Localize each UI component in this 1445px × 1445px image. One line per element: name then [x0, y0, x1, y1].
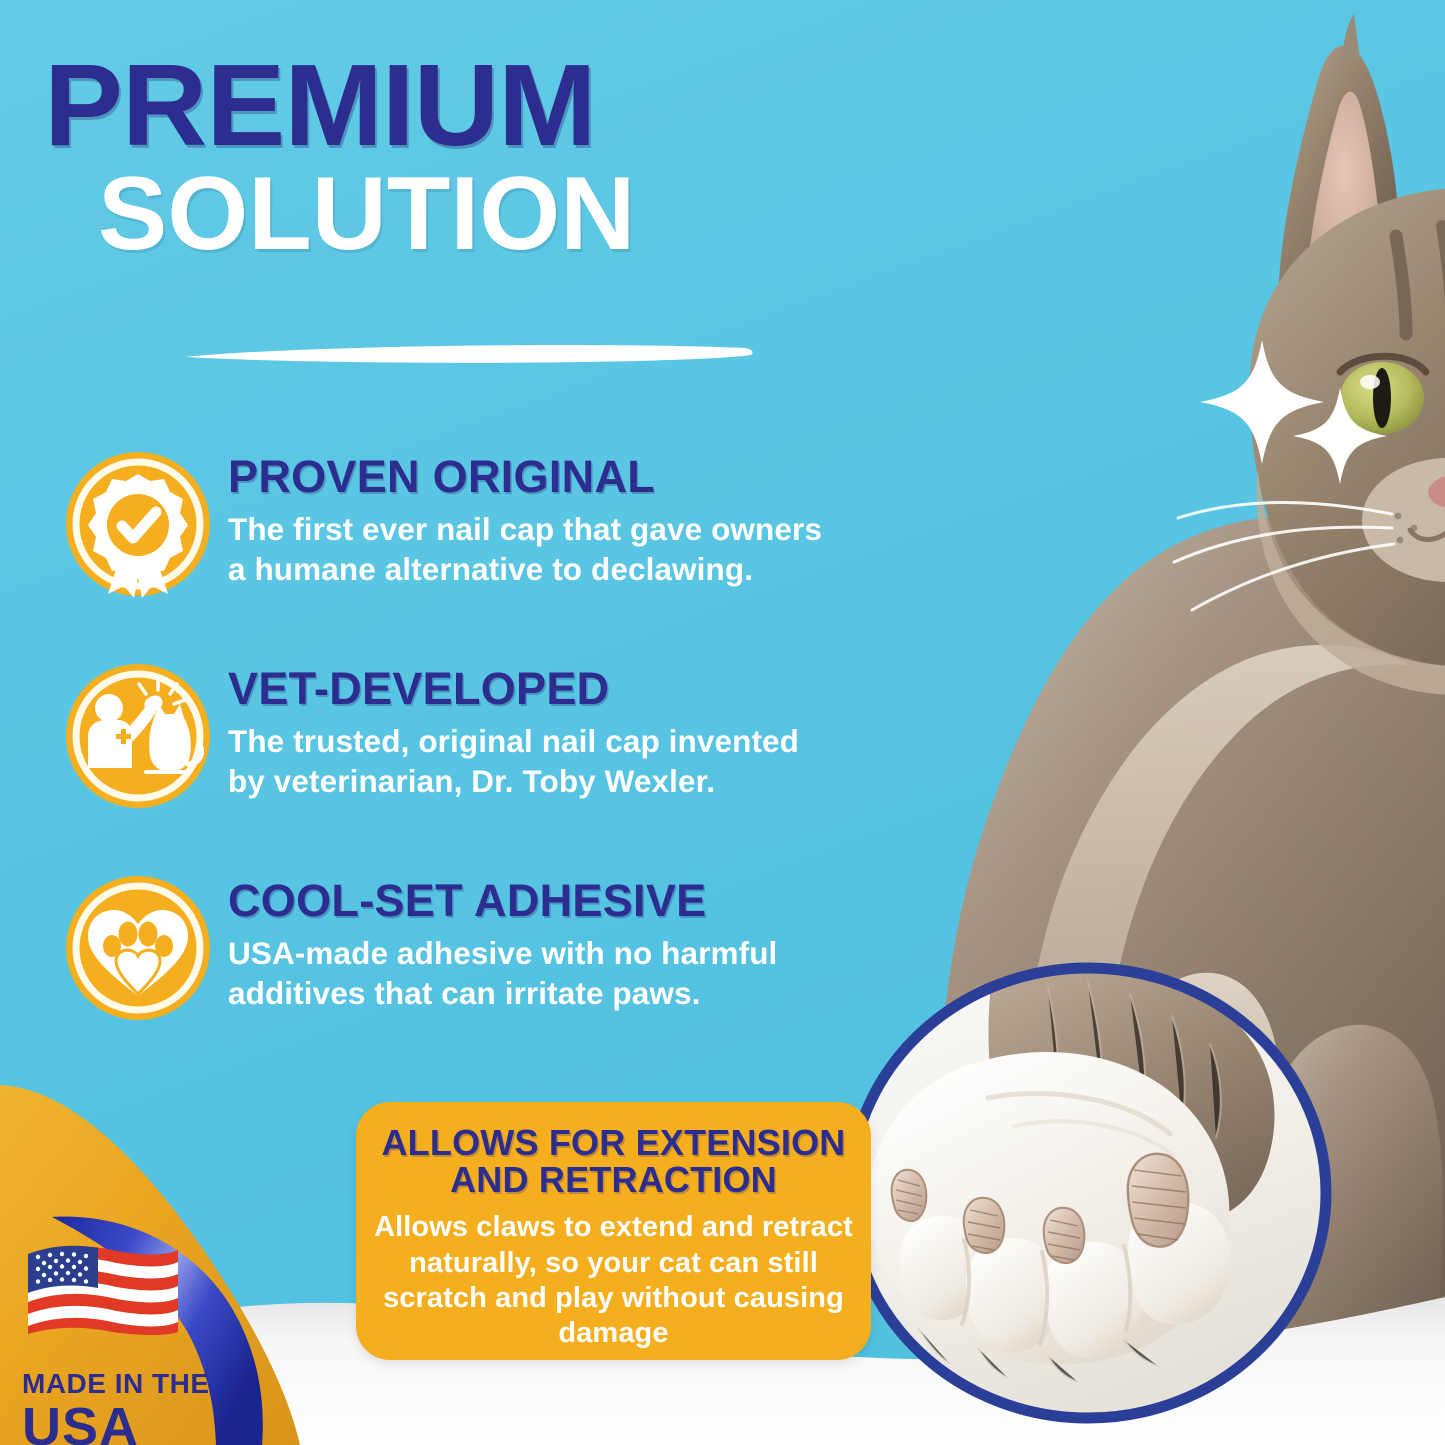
feature-body: USA-made adhesive with no harmful additi… [228, 933, 832, 1014]
made-in-the-label: MADE IN THE [22, 1370, 222, 1398]
usa-label: USA [22, 1400, 222, 1445]
callout-title-line-2: AND RETRACTION [374, 1161, 853, 1198]
feature-title: VET-DEVELOPED [228, 666, 832, 711]
product-feature-graphic: PREMIUM SOLUTION PROVEN ORI [0, 0, 1445, 1445]
made-in-usa-text: MADE IN THE USA [22, 1370, 222, 1445]
headline-line-2: SOLUTION [98, 165, 834, 264]
feature-item: COOL-SET ADHESIVE USA-made adhesive with… [62, 870, 832, 1024]
headline-swoosh-divider [185, 342, 755, 366]
feature-item: PROVEN ORIGINAL The first ever nail cap … [62, 446, 832, 600]
headline-line-1: PREMIUM [44, 52, 850, 159]
feature-text-block: VET-DEVELOPED The trusted, original nail… [228, 658, 832, 802]
callout-title-line-1: ALLOWS FOR EXTENSION [374, 1124, 853, 1161]
heart-paw-icon [62, 872, 214, 1024]
callout-body: Allows claws to extend and retract natur… [374, 1210, 853, 1352]
headline-block: PREMIUM SOLUTION [44, 52, 834, 264]
feature-body: The trusted, original nail cap invented … [228, 721, 832, 802]
feature-text-block: COOL-SET ADHESIVE USA-made adhesive with… [228, 870, 832, 1014]
vet-high-five-cat-icon [62, 660, 214, 812]
feature-body: The first ever nail cap that gave owners… [228, 509, 832, 590]
feature-item: VET-DEVELOPED The trusted, original nail… [62, 658, 832, 812]
award-ribbon-check-icon [62, 448, 214, 600]
feature-list: PROVEN ORIGINAL The first ever nail cap … [62, 446, 832, 1082]
us-flag-icon [26, 1238, 181, 1336]
feature-title: PROVEN ORIGINAL [228, 454, 832, 499]
extension-retraction-callout: ALLOWS FOR EXTENSION AND RETRACTION Allo… [356, 1102, 871, 1360]
callout-title: ALLOWS FOR EXTENSION AND RETRACTION [374, 1124, 853, 1198]
feature-text-block: PROVEN ORIGINAL The first ever nail cap … [228, 446, 832, 590]
paw-closeup-oval [838, 958, 1338, 1428]
feature-title: COOL-SET ADHESIVE [228, 878, 832, 923]
